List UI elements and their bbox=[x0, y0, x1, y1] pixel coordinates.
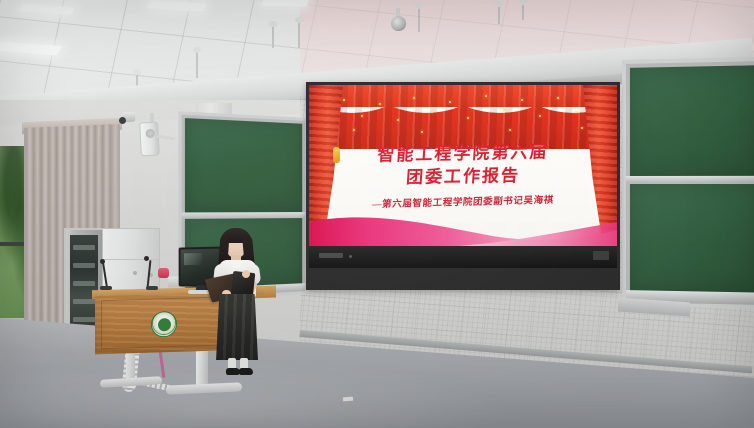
chalkboard-panel bbox=[185, 118, 302, 212]
ceiling-rod bbox=[498, 6, 500, 24]
microphone-head-icon[interactable] bbox=[100, 259, 105, 264]
floor-marking bbox=[343, 397, 353, 402]
dome-camera-icon bbox=[391, 16, 406, 31]
shoe bbox=[226, 368, 240, 375]
camera-lens-icon bbox=[119, 117, 126, 124]
hand-right bbox=[242, 270, 250, 278]
wall-speaker-icon bbox=[139, 122, 160, 157]
crest-center bbox=[158, 318, 171, 331]
ceiling-rod bbox=[272, 26, 274, 48]
right-chalkboard bbox=[622, 57, 754, 309]
slide-curtain-sparkles bbox=[309, 85, 617, 143]
skirt-pleats bbox=[216, 294, 258, 360]
ceiling-rod bbox=[418, 8, 420, 32]
display-label-tag bbox=[593, 251, 609, 260]
display-bezel bbox=[309, 246, 617, 268]
microphone-base bbox=[146, 286, 158, 290]
ceiling-rod bbox=[196, 52, 198, 78]
wave-graphic-icon bbox=[309, 208, 617, 246]
ceiling-rod bbox=[522, 4, 524, 20]
cabinet-knob-icon[interactable] bbox=[133, 271, 137, 275]
display-brand-logo bbox=[319, 253, 343, 258]
slide-headline-line2: 团委工作报告 bbox=[309, 164, 617, 192]
slide-text-block: 智能工程学院第六届 团委工作报告 —第六届智能工程学院团委副书记吴海祺 bbox=[309, 143, 617, 208]
presenter bbox=[206, 226, 270, 382]
microphone-head-icon[interactable] bbox=[144, 256, 149, 261]
power-led-icon bbox=[349, 255, 352, 258]
screen-glare bbox=[184, 253, 202, 265]
chalkboard-middle-rail bbox=[626, 176, 754, 183]
microphone-base bbox=[100, 286, 112, 290]
shoe bbox=[239, 368, 253, 375]
ceiling-rod bbox=[298, 22, 300, 48]
classroom-presentation-photo: 智能工程学院第六届 团委工作报告 —第六届智能工程学院团委副书记吴海祺 bbox=[0, 0, 754, 428]
slide-accent-wave bbox=[309, 208, 617, 246]
chalkboard-panel bbox=[630, 184, 754, 293]
slide-canvas: 智能工程学院第六届 团委工作报告 —第六届智能工程学院团委副书记吴海祺 bbox=[309, 85, 617, 268]
presentation-display[interactable]: 智能工程学院第六届 团委工作报告 —第六届智能工程学院团委副书记吴海祺 bbox=[306, 82, 620, 290]
chalkboard-panel bbox=[630, 65, 754, 176]
skirt bbox=[216, 294, 258, 360]
